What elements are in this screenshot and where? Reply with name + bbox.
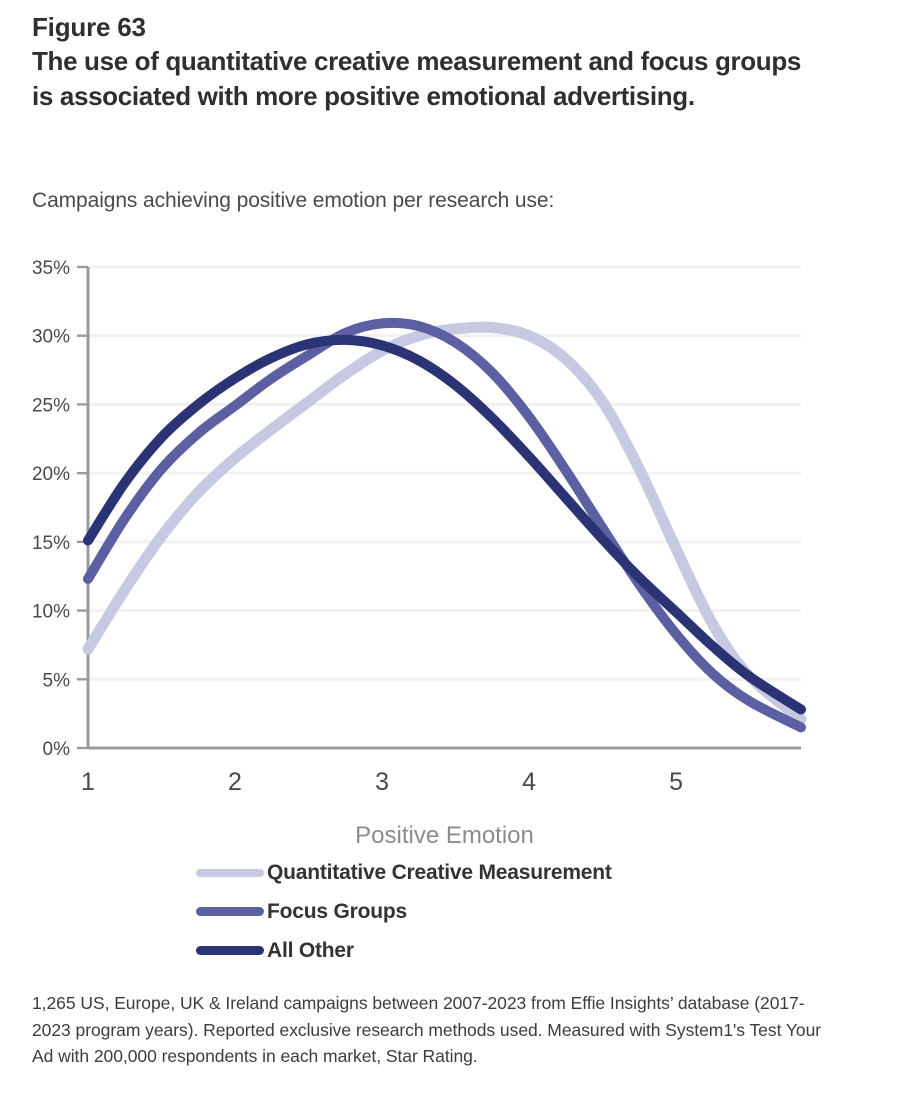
series-line-focus-groups [88,323,801,728]
y-axis-tick-label: 20% [32,464,70,485]
legend-item-all-other[interactable]: All Other [0,931,923,970]
line-chart: 0%5%10%15%20%25%30%35%12345Positive Emot… [0,245,923,865]
x-axis-tick-label: 5 [669,768,683,796]
legend-swatch-icon [196,946,264,955]
y-axis-tick-label: 35% [32,258,70,279]
legend-label: All Other [267,939,354,963]
x-axis-tick-label: 4 [522,768,536,796]
chart-legend: Quantitative Creative Measurement Focus … [0,853,923,970]
y-axis-tick-label: 15% [32,533,70,554]
x-axis-tick-label: 2 [228,768,242,796]
figure-page: Figure 63 The use of quantitative creati… [0,0,923,1120]
legend-swatch-icon [196,907,264,916]
y-axis-tick-label: 25% [32,395,70,416]
figure-number: Figure 63 [32,10,832,44]
y-axis-tick-label: 0% [43,739,71,760]
y-axis-tick-label: 10% [32,602,70,623]
x-axis-tick-label: 3 [375,768,389,796]
figure-header: Figure 63 The use of quantitative creati… [32,10,832,113]
figure-title: The use of quantitative creative measure… [32,44,822,113]
x-axis-ticks: 12345 [81,768,683,796]
x-axis-title: Positive Emotion [355,822,534,849]
legend-item-focus-groups[interactable]: Focus Groups [0,892,923,931]
chart-container: 0%5%10%15%20%25%30%35%12345Positive Emot… [0,245,923,865]
x-axis-tick-label: 1 [81,768,95,796]
legend-swatch-icon [196,869,264,877]
y-axis-tick-label: 5% [43,670,71,691]
legend-label: Focus Groups [267,900,407,924]
y-axis-tick-label: 30% [32,327,70,348]
figure-footnote: 1,265 US, Europe, UK & Ireland campaigns… [32,990,822,1070]
legend-item-quantitative-creative-measurement[interactable]: Quantitative Creative Measurement [0,853,923,892]
figure-subtitle: Campaigns achieving positive emotion per… [32,189,554,213]
legend-label: Quantitative Creative Measurement [267,861,612,885]
